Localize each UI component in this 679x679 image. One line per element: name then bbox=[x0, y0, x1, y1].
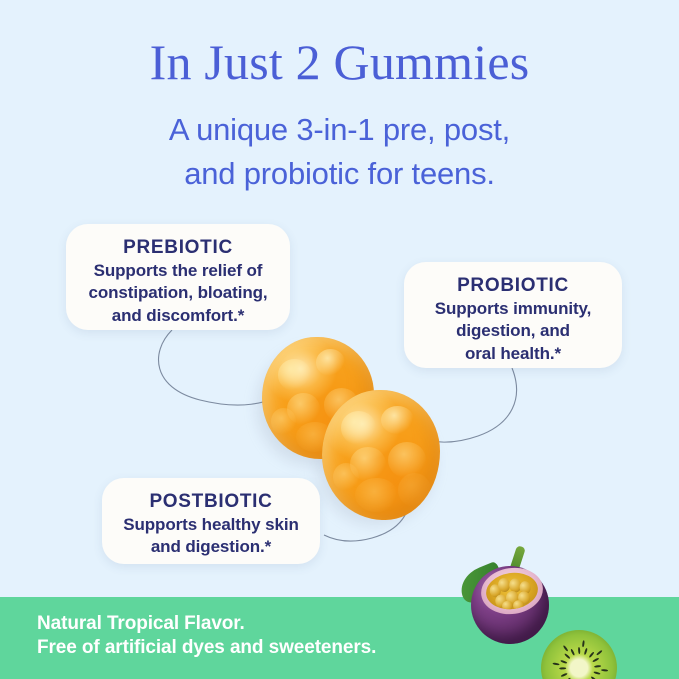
callout-title-postbiotic: POSTBIOTIC bbox=[112, 491, 310, 514]
callout-body-line-2: constipation, bloating, bbox=[76, 282, 280, 304]
callout-body-postbiotic: Supports healthy skin and digestion.* bbox=[112, 514, 310, 559]
callout-title-prebiotic: PREBIOTIC bbox=[76, 237, 280, 260]
callout-body-line-2: digestion, and bbox=[414, 320, 612, 342]
callout-card-prebiotic[interactable]: PREBIOTIC Supports the relief of constip… bbox=[66, 224, 290, 330]
callout-body-line-1: Supports the relief of bbox=[76, 260, 280, 282]
callout-body-probiotic: Supports immunity, digestion, and oral h… bbox=[414, 298, 612, 365]
callout-body-line-3: oral health.* bbox=[414, 343, 612, 365]
callout-body-line-1: Supports immunity, bbox=[414, 298, 612, 320]
callout-card-postbiotic[interactable]: POSTBIOTIC Supports healthy skin and dig… bbox=[102, 478, 320, 564]
callout-title-probiotic: PROBIOTIC bbox=[414, 275, 612, 298]
callout-body-line-3: and discomfort.* bbox=[76, 305, 280, 327]
footer-line-1: Natural Tropical Flavor. bbox=[37, 613, 245, 635]
passion-fruit-icon bbox=[457, 552, 567, 652]
infographic-canvas: In Just 2 Gummies A unique 3-in-1 pre, p… bbox=[0, 0, 679, 679]
callout-body-prebiotic: Supports the relief of constipation, blo… bbox=[76, 260, 280, 327]
gummy-front bbox=[322, 390, 440, 520]
callout-card-probiotic[interactable]: PROBIOTIC Supports immunity, digestion, … bbox=[404, 262, 622, 368]
footer-line-2: Free of artificial dyes and sweeteners. bbox=[37, 637, 376, 659]
callout-body-line-2: and digestion.* bbox=[112, 536, 310, 558]
callout-body-line-1: Supports healthy skin bbox=[112, 514, 310, 536]
